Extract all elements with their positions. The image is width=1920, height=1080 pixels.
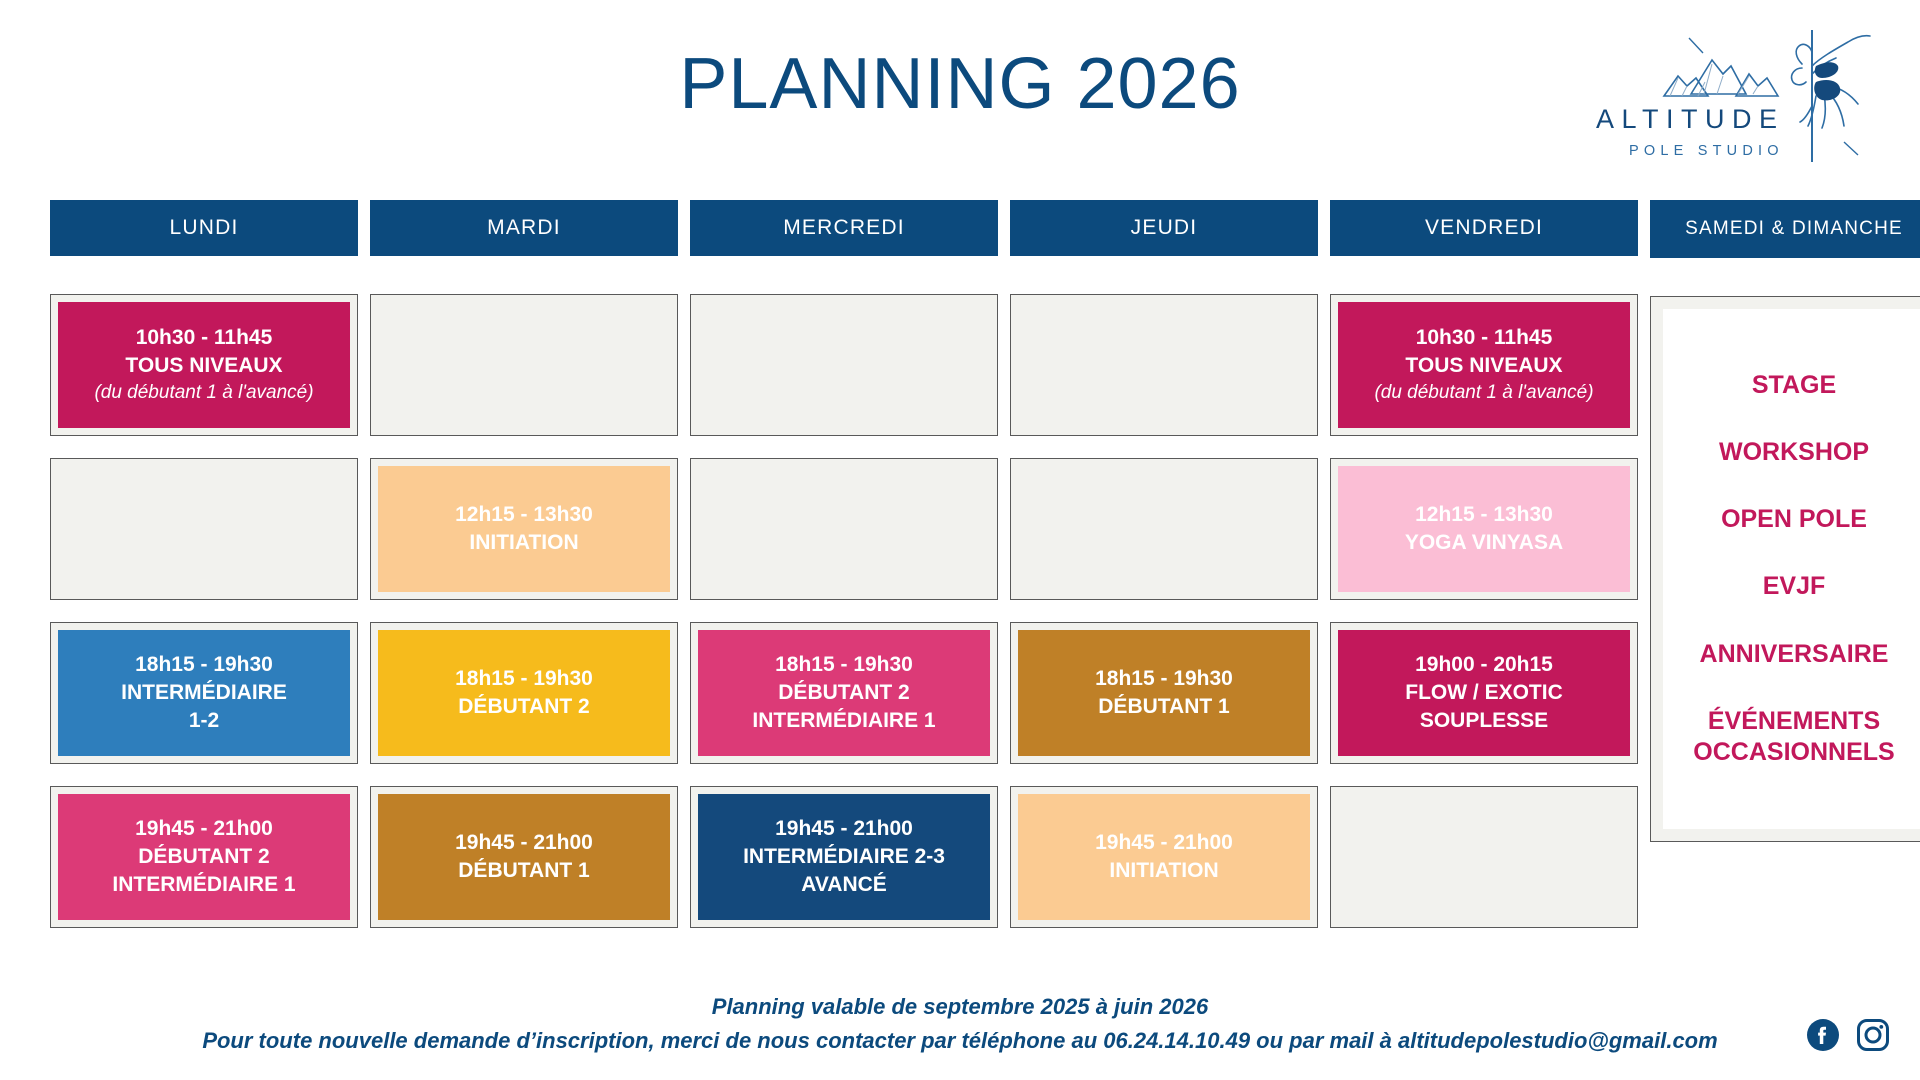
class-slot[interactable]: 19h45 - 21h00INITIATION: [1010, 786, 1318, 928]
class-slot-content: 10h30 - 11h45TOUS NIVEAUX(du débutant 1 …: [1338, 302, 1630, 428]
class-level: INTERMÉDIAIRE 1: [112, 871, 295, 899]
class-slot-content: 12h15 - 13h30INITIATION: [378, 466, 670, 592]
day-slot-list: 12h15 - 13h30INITIATION18h15 - 19h30DÉBU…: [370, 294, 678, 928]
weekend-event-item: WORKSHOP: [1719, 437, 1869, 468]
class-slot-content: [1018, 466, 1310, 592]
class-level: INTERMÉDIAIRE 1: [752, 707, 935, 735]
class-time: 12h15 - 13h30: [455, 501, 593, 529]
class-level: INITIATION: [1109, 857, 1218, 885]
weekend-events-list: STAGEWORKSHOPOPEN POLEEVJFANNIVERSAIREÉV…: [1663, 309, 1920, 829]
class-level: INTERMÉDIAIRE 2-3: [743, 843, 945, 871]
class-level: DÉBUTANT 2: [138, 843, 269, 871]
day-column-mardi: MARDI12h15 - 13h30INITIATION18h15 - 19h3…: [370, 200, 678, 928]
class-time: 12h15 - 13h30: [1415, 501, 1553, 529]
day-header-jeudi[interactable]: JEUDI: [1010, 200, 1318, 256]
class-time: 18h15 - 19h30: [1095, 665, 1233, 693]
class-level: INTERMÉDIAIRE: [121, 679, 287, 707]
class-level: SOUPLESSE: [1420, 707, 1548, 735]
empty-slot: [370, 294, 678, 436]
empty-slot: [690, 294, 998, 436]
class-slot-content: 10h30 - 11h45TOUS NIVEAUX(du débutant 1 …: [58, 302, 350, 428]
class-time: 19h45 - 21h00: [775, 815, 913, 843]
class-time: 19h45 - 21h00: [135, 815, 273, 843]
footer: Planning valable de septembre 2025 à jui…: [0, 990, 1920, 1058]
class-time: 18h15 - 19h30: [455, 665, 593, 693]
logo-tagline: POLE STUDIO: [1629, 143, 1784, 159]
class-slot[interactable]: 19h45 - 21h00DÉBUTANT 1: [370, 786, 678, 928]
day-header-mardi[interactable]: MARDI: [370, 200, 678, 256]
class-slot[interactable]: 19h00 - 20h15FLOW / EXOTICSOUPLESSE: [1330, 622, 1638, 764]
day-header-lundi[interactable]: LUNDI: [50, 200, 358, 256]
class-slot[interactable]: 18h15 - 19h30DÉBUTANT 2: [370, 622, 678, 764]
day-column-jeudi: JEUDI18h15 - 19h30DÉBUTANT 119h45 - 21h0…: [1010, 200, 1318, 928]
class-slot[interactable]: 19h45 - 21h00DÉBUTANT 2INTERMÉDIAIRE 1: [50, 786, 358, 928]
weekend-slot-list: STAGEWORKSHOPOPEN POLEEVJFANNIVERSAIREÉV…: [1650, 296, 1920, 842]
day-slot-list: 10h30 - 11h45TOUS NIVEAUX(du débutant 1 …: [1330, 294, 1638, 928]
class-slot-content: 18h15 - 19h30DÉBUTANT 1: [1018, 630, 1310, 756]
class-slot-content: 19h45 - 21h00DÉBUTANT 1: [378, 794, 670, 920]
empty-slot: [1330, 786, 1638, 928]
class-level: YOGA VINYASA: [1405, 529, 1563, 557]
class-slot-content: [1338, 794, 1630, 920]
brand-logo: ALTITUDE POLE STUDIO: [1586, 16, 1886, 166]
class-slot-content: 12h15 - 13h30YOGA VINYASA: [1338, 466, 1630, 592]
class-level: DÉBUTANT 1: [458, 857, 589, 885]
class-level: DÉBUTANT 2: [778, 679, 909, 707]
day-slot-list: 18h15 - 19h30DÉBUTANT 119h45 - 21h00INIT…: [1010, 294, 1318, 928]
class-time: 19h45 - 21h00: [1095, 829, 1233, 857]
instagram-icon[interactable]: [1856, 1018, 1890, 1052]
class-slot-content: 18h15 - 19h30DÉBUTANT 2: [378, 630, 670, 756]
class-slot[interactable]: 10h30 - 11h45TOUS NIVEAUX(du débutant 1 …: [50, 294, 358, 436]
class-level: AVANCÉ: [801, 871, 887, 899]
class-time: 18h15 - 19h30: [775, 651, 913, 679]
class-slot-content: [378, 302, 670, 428]
empty-slot: [50, 458, 358, 600]
class-slot[interactable]: 10h30 - 11h45TOUS NIVEAUX(du débutant 1 …: [1330, 294, 1638, 436]
class-level: TOUS NIVEAUX: [125, 352, 282, 380]
day-header-weekend[interactable]: SAMEDI & DIMANCHE: [1650, 200, 1920, 258]
day-header-vendredi[interactable]: VENDREDI: [1330, 200, 1638, 256]
day-column-weekend: SAMEDI & DIMANCHESTAGEWORKSHOPOPEN POLEE…: [1650, 200, 1920, 928]
class-level: DÉBUTANT 1: [1098, 693, 1229, 721]
social-links: [1806, 1018, 1890, 1052]
class-slot[interactable]: 18h15 - 19h30DÉBUTANT 2INTERMÉDIAIRE 1: [690, 622, 998, 764]
class-slot-content: 19h00 - 20h15FLOW / EXOTICSOUPLESSE: [1338, 630, 1630, 756]
class-slot[interactable]: 19h45 - 21h00INTERMÉDIAIRE 2-3AVANCÉ: [690, 786, 998, 928]
weekend-event-item: ÉVÉNEMENTS OCCASIONNELS: [1693, 706, 1894, 769]
day-slot-list: 10h30 - 11h45TOUS NIVEAUX(du débutant 1 …: [50, 294, 358, 928]
weekend-events-panel[interactable]: STAGEWORKSHOPOPEN POLEEVJFANNIVERSAIREÉV…: [1650, 296, 1920, 842]
empty-slot: [690, 458, 998, 600]
class-slot[interactable]: 12h15 - 13h30INITIATION: [370, 458, 678, 600]
class-slot-content: [1018, 302, 1310, 428]
class-slot[interactable]: 18h15 - 19h30INTERMÉDIAIRE1-2: [50, 622, 358, 764]
class-time: 10h30 - 11h45: [136, 324, 273, 352]
class-level: TOUS NIVEAUX: [1405, 352, 1562, 380]
class-slot-content: 19h45 - 21h00DÉBUTANT 2INTERMÉDIAIRE 1: [58, 794, 350, 920]
class-slot-content: 19h45 - 21h00INTERMÉDIAIRE 2-3AVANCÉ: [698, 794, 990, 920]
weekend-event-item: STAGE: [1752, 370, 1836, 401]
class-note: (du débutant 1 à l'avancé): [94, 380, 313, 405]
class-slot-content: 18h15 - 19h30DÉBUTANT 2INTERMÉDIAIRE 1: [698, 630, 990, 756]
mountain-icon: [1664, 60, 1778, 96]
class-slot[interactable]: 12h15 - 13h30YOGA VINYASA: [1330, 458, 1638, 600]
class-level: 1-2: [189, 707, 219, 735]
facebook-icon[interactable]: [1806, 1018, 1840, 1052]
class-time: 18h15 - 19h30: [135, 651, 273, 679]
day-column-mercredi: MERCREDI18h15 - 19h30DÉBUTANT 2INTERMÉDI…: [690, 200, 998, 928]
class-time: 10h30 - 11h45: [1416, 324, 1553, 352]
empty-slot: [1010, 294, 1318, 436]
empty-slot: [1010, 458, 1318, 600]
class-time: 19h00 - 20h15: [1415, 651, 1553, 679]
class-level: INITIATION: [469, 529, 578, 557]
weekend-event-item: OPEN POLE: [1721, 504, 1867, 535]
class-slot-content: [698, 466, 990, 592]
logo-wordmark: ALTITUDE: [1596, 104, 1785, 134]
class-slot-content: 19h45 - 21h00INITIATION: [1018, 794, 1310, 920]
day-column-vendredi: VENDREDI10h30 - 11h45TOUS NIVEAUX(du déb…: [1330, 200, 1638, 928]
day-slot-list: 18h15 - 19h30DÉBUTANT 2INTERMÉDIAIRE 119…: [690, 294, 998, 928]
class-level: FLOW / EXOTIC: [1405, 679, 1563, 707]
page-header: PLANNING 2026: [0, 0, 1920, 186]
footer-contact-text: Pour toute nouvelle demande d’inscriptio…: [0, 1024, 1920, 1058]
day-column-lundi: LUNDI10h30 - 11h45TOUS NIVEAUX(du débuta…: [50, 200, 358, 928]
weekend-event-item: EVJF: [1763, 571, 1826, 602]
weekend-event-item: ANNIVERSAIRE: [1700, 639, 1889, 670]
footer-validity-text: Planning valable de septembre 2025 à jui…: [0, 990, 1920, 1024]
class-level: DÉBUTANT 2: [458, 693, 589, 721]
class-note: (du débutant 1 à l'avancé): [1374, 380, 1593, 405]
class-slot-content: [698, 302, 990, 428]
class-slot[interactable]: 18h15 - 19h30DÉBUTANT 1: [1010, 622, 1318, 764]
class-slot-content: 18h15 - 19h30INTERMÉDIAIRE1-2: [58, 630, 350, 756]
schedule-grid: LUNDI10h30 - 11h45TOUS NIVEAUX(du débuta…: [50, 200, 1886, 928]
class-time: 19h45 - 21h00: [455, 829, 593, 857]
day-header-mercredi[interactable]: MERCREDI: [690, 200, 998, 256]
class-slot-content: [58, 466, 350, 592]
